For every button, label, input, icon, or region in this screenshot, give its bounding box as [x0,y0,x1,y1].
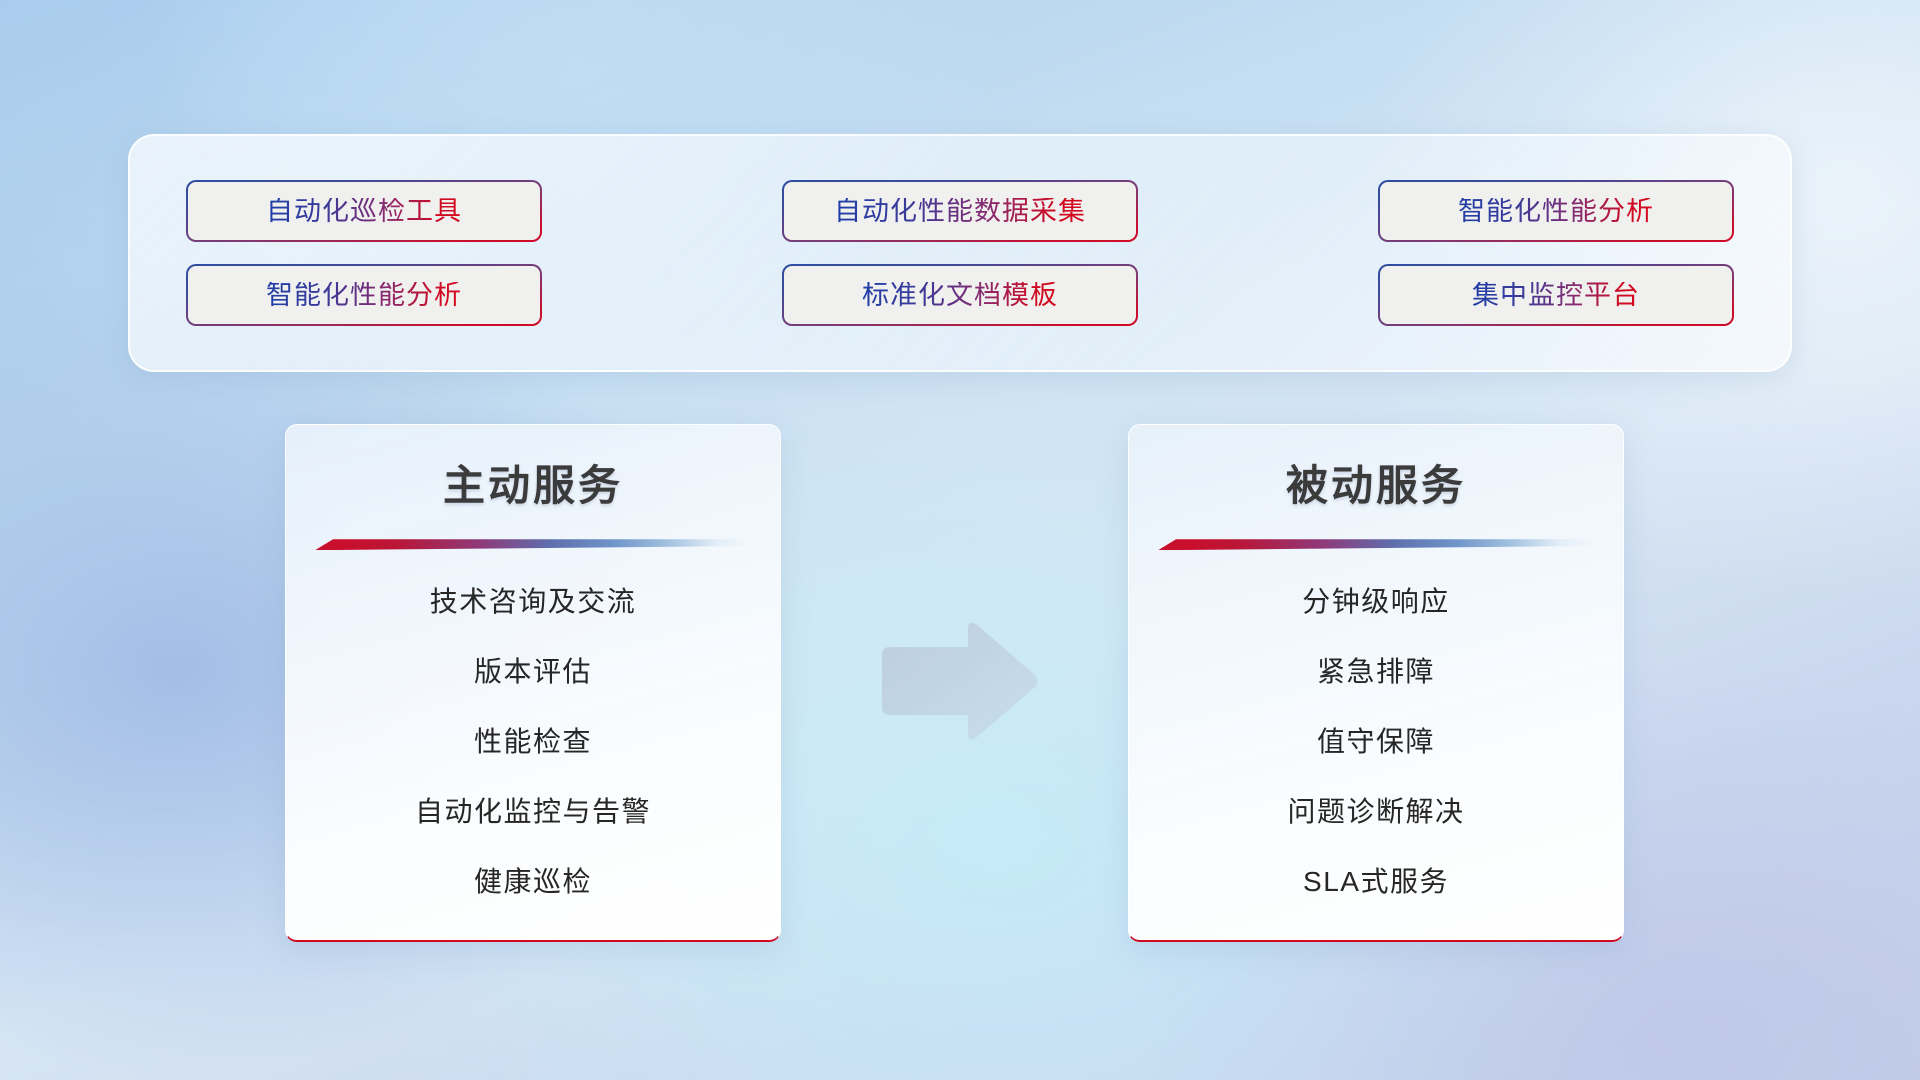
service-list-item: 版本评估 [474,658,592,686]
arrow-right-icon [876,619,1040,743]
service-list-item: 分钟级响应 [1302,588,1450,616]
title-divider [315,539,751,552]
tools-row-1: 自动化巡检工具 自动化性能数据采集 智能化性能分析 [186,180,1734,242]
tool-pill-label: 智能化性能分析 [1458,198,1654,225]
service-list-item: SLA式服务 [1303,868,1449,896]
tool-pill-standard-doc-template[interactable]: 标准化文档模板 [782,264,1138,326]
tool-pill-automated-perf-collection[interactable]: 自动化性能数据采集 [782,180,1138,242]
tool-pill-label: 自动化性能数据采集 [834,198,1086,225]
service-item-list: 技术咨询及交流 版本评估 性能检查 自动化监控与告警 健康巡检 [286,588,780,896]
divider-bar [1158,539,1594,550]
tool-pill-label: 集中监控平台 [1472,282,1640,309]
service-list-item: 技术咨询及交流 [430,588,637,616]
tools-row-2: 智能化性能分析 标准化文档模板 集中监控平台 [186,264,1734,326]
slide-canvas: 自动化巡检工具 自动化性能数据采集 智能化性能分析 智能化性能分析 标准化文档模… [0,0,1920,1080]
tool-pill-automated-inspection[interactable]: 自动化巡检工具 [186,180,542,242]
tool-pill-intelligent-perf-analysis-2[interactable]: 智能化性能分析 [186,264,542,326]
service-list-item: 性能检查 [474,728,592,756]
tool-pill-label: 标准化文档模板 [862,282,1058,309]
tool-pill-label: 自动化巡检工具 [266,198,462,225]
service-card-title: 主动服务 [286,463,780,509]
service-card-proactive: 主动服务 技术咨询及交流 版本评估 性能检查 自动化监控与告警 健康巡检 [285,424,781,942]
tool-pill-label: 智能化性能分析 [266,282,462,309]
service-list-item: 紧急排障 [1317,658,1435,686]
tools-panel: 自动化巡检工具 自动化性能数据采集 智能化性能分析 智能化性能分析 标准化文档模… [128,134,1792,372]
service-item-list: 分钟级响应 紧急排障 值守保障 问题诊断解决 SLA式服务 [1129,588,1623,896]
service-list-item: 自动化监控与告警 [415,798,651,826]
service-list-item: 健康巡检 [474,868,592,896]
service-list-item: 问题诊断解决 [1287,798,1464,826]
service-card-title: 被动服务 [1129,463,1623,509]
title-divider [1158,539,1594,552]
divider-bar [315,539,751,550]
service-card-reactive: 被动服务 分钟级响应 紧急排障 值守保障 问题诊断解决 SLA式服务 [1128,424,1624,942]
service-list-item: 值守保障 [1317,728,1435,756]
tool-pill-intelligent-perf-analysis[interactable]: 智能化性能分析 [1378,180,1734,242]
tool-pill-central-monitoring-platform[interactable]: 集中监控平台 [1378,264,1734,326]
